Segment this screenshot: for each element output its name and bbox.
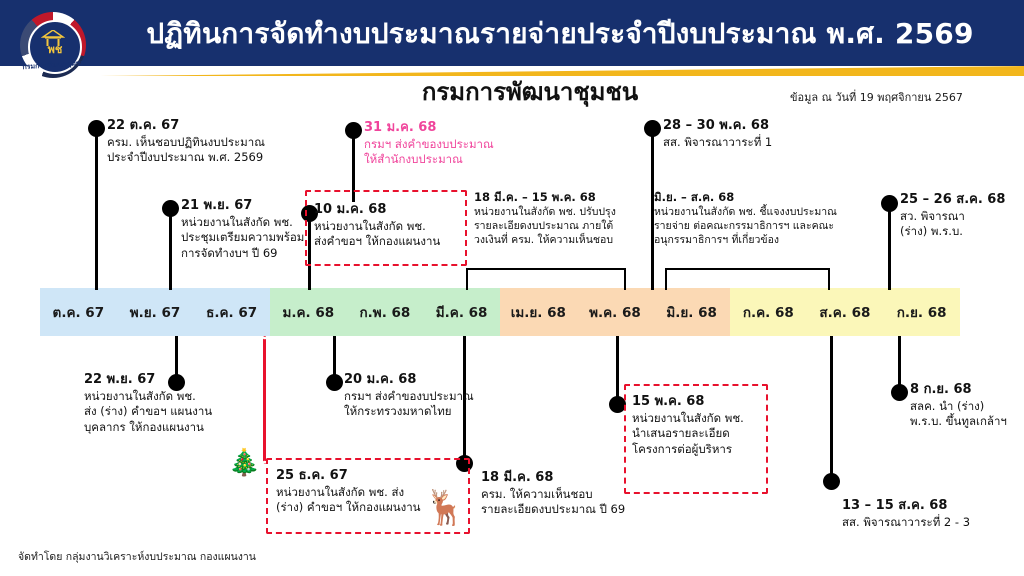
- note-28-30may68: 28 – 30 พ.ค. 68 สส. พิจารณาวาระที่ 1: [663, 118, 843, 150]
- note-line: รายละเอียดงบประมาณ ปี 69: [481, 502, 671, 518]
- note-line: วงเงินที่ ครม. ให้ความเห็นชอบ: [474, 233, 639, 247]
- note-line: ประชุมเตรียมความพร้อม: [181, 230, 321, 246]
- note-jun-aug68: มิ.ย. – ส.ค. 68 หน่วยงานในสังกัด พช. ชี้…: [654, 190, 854, 247]
- dot-13-15aug68: [823, 473, 840, 490]
- note-8sep68: 8 ก.ย. 68 สลค. นำ (ร่าง) พ.ร.บ. ขึ้นทูลเ…: [910, 382, 1024, 430]
- note-line: ครม. เห็นชอบปฏิทินงบประมาณ: [107, 135, 307, 151]
- stem-15may68: [616, 336, 619, 404]
- note-line: ส่งคำขอฯ ให้กองแผนงาน: [314, 234, 464, 250]
- page-subtitle: กรมการพัฒนาชุมชน: [200, 72, 860, 111]
- bracket-span-jun-aug: [665, 268, 830, 270]
- holly-decoration: 🎄: [228, 450, 260, 476]
- note-line: รายละเอียดงบประมาณ ภายใต้: [474, 219, 639, 233]
- note-line: (ร่าง) พ.ร.บ.: [900, 224, 1024, 240]
- note-date-28-30may68: 28 – 30 พ.ค. 68: [663, 118, 843, 134]
- note-date-20jan68: 20 ม.ค. 68: [344, 372, 524, 388]
- month-cell-jun68: มิ.ย. 68: [653, 288, 730, 336]
- month-cell-may68: พ.ค. 68: [577, 288, 654, 336]
- dot-28may68: [644, 120, 661, 137]
- note-line: ประจำปีงบประมาณ พ.ศ. 2569: [107, 150, 307, 166]
- note-line: ให้สำนักงบประมาณ: [364, 152, 544, 168]
- stem-25aug68: [888, 205, 891, 290]
- note-line: สส. พิจารณาวาระที่ 2 - 3: [842, 515, 1024, 531]
- month-cell-mar68: มี.ค. 68: [423, 288, 500, 336]
- bracket-right-aug: [828, 268, 830, 290]
- dashed-connector-25dec67: [263, 336, 266, 464]
- dot-25aug68: [881, 195, 898, 212]
- note-date-8sep68: 8 ก.ย. 68: [910, 382, 1024, 398]
- note-13-15aug68: 13 – 15 ส.ค. 68 สส. พิจารณาวาระที่ 2 - 3: [842, 498, 1024, 530]
- note-line: หน่วยงานในสังกัด พช. ชี้แจงงบประมาณ: [654, 205, 854, 219]
- bracket-span-18mar-15may: [466, 268, 626, 270]
- cdd-emblem-logo: พช กรมการพัฒนาชุมชน: [14, 8, 94, 88]
- month-cell-feb68: ก.พ. 68: [347, 288, 424, 336]
- note-15may68: 15 พ.ค. 68 หน่วยงานในสังกัด พช. นำเสนอรา…: [632, 394, 767, 457]
- note-21nov67: 21 พ.ย. 67 หน่วยงานในสังกัด พช. ประชุมเต…: [181, 198, 321, 261]
- note-line: ให้กระทรวงมหาดไทย: [344, 404, 524, 420]
- dot-8sep68: [891, 384, 908, 401]
- note-line: รายจ่าย ต่อคณะกรรมาธิการฯ และคณะ: [654, 219, 854, 233]
- note-line: กรมฯ ส่งคำของบประมาณ: [364, 137, 544, 153]
- note-line: หน่วยงานในสังกัด พช.: [314, 219, 464, 235]
- month-cell-dec67: ธ.ค. 67: [193, 288, 270, 336]
- note-date-25-26aug68: 25 – 26 ส.ค. 68: [900, 192, 1024, 208]
- note-line: อนุกรรมาธิการฯ ที่เกี่ยวข้อง: [654, 233, 854, 247]
- month-cell-jan68: ม.ค. 68: [270, 288, 347, 336]
- emblem-acronym: พช: [38, 44, 72, 55]
- bracket-left-18mar: [466, 268, 468, 290]
- note-date-21nov67: 21 พ.ย. 67: [181, 198, 321, 214]
- note-line: หน่วยงานในสังกัด พช.: [632, 411, 767, 427]
- dot-21nov67: [162, 200, 179, 217]
- note-18mar-15may68: 18 มี.ค. – 15 พ.ค. 68 หน่วยงานในสังกัด พ…: [474, 190, 639, 247]
- note-date-22nov67: 22 พ.ย. 67: [84, 372, 259, 388]
- note-line: ส่ง (ร่าง) คำขอฯ แผนงาน: [84, 404, 259, 420]
- note-line: สว. พิจารณา: [900, 209, 1024, 225]
- note-date-31jan68: 31 ม.ค. 68: [364, 120, 544, 136]
- note-line: หน่วยงานในสังกัด พช. ปรับปรุง: [474, 205, 639, 219]
- note-line: หน่วยงานในสังกัด พช.: [84, 389, 259, 405]
- month-cell-sep68: ก.ย. 68: [883, 288, 960, 336]
- footer-credit: จัดทำโดย กลุ่มงานวิเคราะห์งบประมาณ กองแผ…: [18, 548, 256, 565]
- note-line: นำเสนอรายละเอียด: [632, 426, 767, 442]
- stem-22oct67: [95, 130, 98, 290]
- page-title: ปฏิทินการจัดทำงบประมาณรายจ่ายประจำปีงบปร…: [110, 12, 1010, 56]
- note-line: การจัดทำงบฯ ปี 69: [181, 246, 321, 262]
- month-cell-apr68: เม.ย. 68: [500, 288, 577, 336]
- note-date-jun-aug68: มิ.ย. – ส.ค. 68: [654, 190, 854, 204]
- note-date-13-15aug68: 13 – 15 ส.ค. 68: [842, 498, 1024, 514]
- reindeer-decoration: 🦌: [424, 495, 466, 521]
- note-line: สลค. นำ (ร่าง): [910, 399, 1024, 415]
- note-20jan68: 20 ม.ค. 68 กรมฯ ส่งคำของบประมาณ ให้กระทร…: [344, 372, 524, 420]
- timeline-band: ต.ค. 67 พ.ย. 67 ธ.ค. 67 ม.ค. 68 ก.พ. 68 …: [40, 288, 960, 336]
- note-line: หน่วยงานในสังกัด พช.: [181, 215, 321, 231]
- note-date-15may68: 15 พ.ค. 68: [632, 394, 767, 410]
- note-22nov67: 22 พ.ย. 67 หน่วยงานในสังกัด พช. ส่ง (ร่า…: [84, 372, 259, 435]
- note-25-26aug68: 25 – 26 ส.ค. 68 สว. พิจารณา (ร่าง) พ.ร.บ…: [900, 192, 1024, 240]
- note-22oct67: 22 ต.ค. 67 ครม. เห็นชอบปฏิทินงบประมาณ ปร…: [107, 118, 307, 166]
- note-date-22oct67: 22 ต.ค. 67: [107, 118, 307, 134]
- dot-20jan68: [326, 374, 343, 391]
- note-line: พ.ร.บ. ขึ้นทูลเกล้าฯ: [910, 414, 1024, 430]
- month-cell-aug68: ส.ค. 68: [807, 288, 884, 336]
- note-line: สส. พิจารณาวาระที่ 1: [663, 135, 843, 151]
- note-date-18mar-15may68: 18 มี.ค. – 15 พ.ค. 68: [474, 190, 639, 204]
- note-date-10jan68: 10 ม.ค. 68: [314, 202, 464, 218]
- bracket-left-jun: [665, 268, 667, 290]
- note-31jan68: 31 ม.ค. 68 กรมฯ ส่งคำของบประมาณ ให้สำนัก…: [364, 120, 544, 168]
- stem-13-15aug68: [830, 336, 833, 481]
- data-asof-datestamp: ข้อมูล ณ วันที่ 19 พฤศจิกายน 2567: [790, 88, 1010, 106]
- note-date-25dec67: 25 ธ.ค. 67: [276, 468, 468, 484]
- infographic-canvas: พช กรมการพัฒนาชุมชน ปฏิทินการจัดทำงบประม…: [0, 0, 1024, 576]
- month-cell-nov67: พ.ย. 67: [117, 288, 194, 336]
- note-10jan68: 10 ม.ค. 68 หน่วยงานในสังกัด พช. ส่งคำขอฯ…: [314, 202, 464, 250]
- stem-21nov67: [169, 210, 172, 290]
- note-line: กรมฯ ส่งคำของบประมาณ: [344, 389, 524, 405]
- dot-31jan68: [345, 122, 362, 139]
- month-cell-jul68: ก.ค. 68: [730, 288, 807, 336]
- note-line: บุคลากร ให้กองแผนงาน: [84, 420, 259, 436]
- note-line: โครงการต่อผู้บริหาร: [632, 442, 767, 458]
- month-cell-oct67: ต.ค. 67: [40, 288, 117, 336]
- dot-22oct67: [88, 120, 105, 137]
- bracket-right-15may: [624, 268, 626, 290]
